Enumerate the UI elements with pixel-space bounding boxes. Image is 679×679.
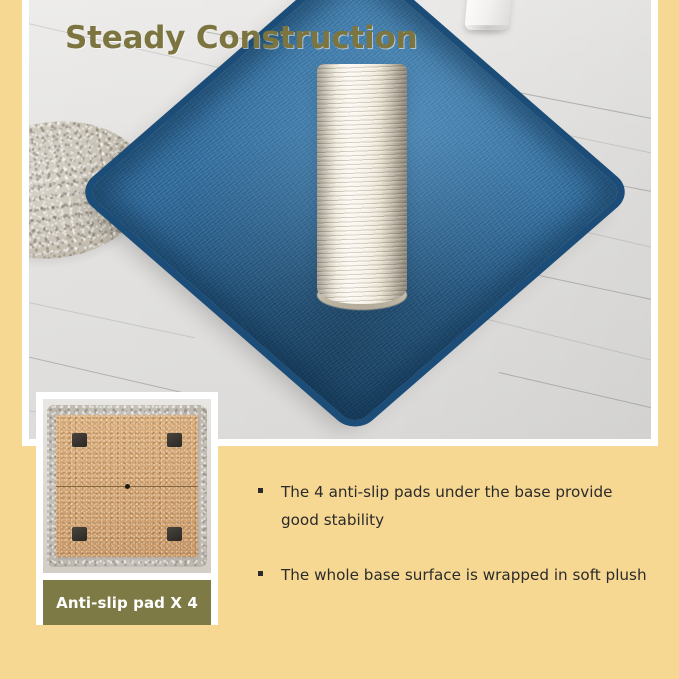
hero-photo-frame: Steady Construction <box>22 0 658 446</box>
anti-slip-pad-card: Anti-slip pad X 4 <box>36 392 218 625</box>
anti-slip-pad-caption-bar: Anti-slip pad X 4 <box>43 580 211 625</box>
feature-list-item-text: The 4 anti-slip pads under the base prov… <box>281 478 653 534</box>
pad-cardboard-underside <box>56 415 198 557</box>
anti-slip-pad-bottom-right <box>167 527 182 541</box>
hero-product-photo: Steady Construction <box>29 0 651 439</box>
pad-center-dot <box>125 484 130 489</box>
feature-list-item: The 4 anti-slip pads under the base prov… <box>258 478 668 534</box>
plush-base-group <box>49 72 649 439</box>
anti-slip-pad-bottom-left <box>72 527 87 541</box>
anti-slip-pad-caption-text: Anti-slip pad X 4 <box>56 594 198 612</box>
page-title: Steady Construction <box>65 20 417 56</box>
square-bullet-icon <box>258 488 263 493</box>
anti-slip-pad-photo <box>43 399 211 573</box>
feature-list: The 4 anti-slip pads under the base prov… <box>258 478 668 616</box>
sisal-scratching-post <box>317 64 407 304</box>
feature-list-item: The whole base surface is wrapped in sof… <box>258 561 668 589</box>
anti-slip-pad-top-left <box>72 433 87 447</box>
furniture-leg <box>464 0 513 30</box>
anti-slip-pad-top-right <box>167 433 182 447</box>
feature-list-item-text: The whole base surface is wrapped in sof… <box>281 561 647 589</box>
square-bullet-icon <box>258 571 263 576</box>
